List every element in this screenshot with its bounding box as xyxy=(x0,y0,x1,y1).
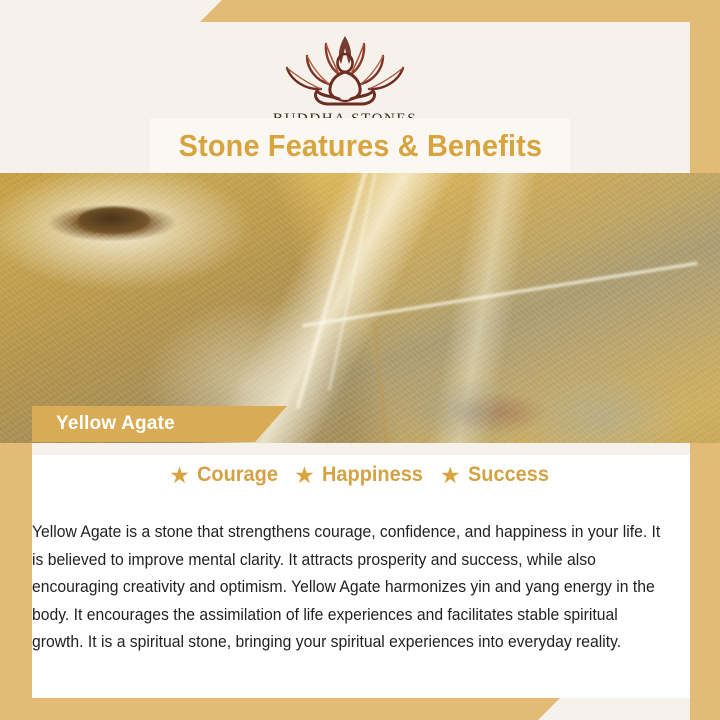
brand-logo: BUDDHA STONES xyxy=(271,30,419,128)
gold-top-accent-bar xyxy=(200,0,720,22)
stone-name-label: Yellow Agate xyxy=(32,413,175,435)
product-stone-image xyxy=(0,173,720,443)
benefit-item-courage: ★ Courage xyxy=(169,463,282,487)
stone-name-ribbon: Yellow Agate xyxy=(32,406,287,442)
benefit-item-happiness: ★ Happiness xyxy=(294,463,428,487)
page-title-banner: Stone Features & Benefits xyxy=(150,118,570,173)
star-icon: ★ xyxy=(294,464,315,487)
lotus-meditation-icon xyxy=(271,30,419,108)
star-icon: ★ xyxy=(440,464,461,487)
stone-cavity xyxy=(78,207,150,233)
gold-bottom-accent-bar xyxy=(0,698,560,720)
benefit-item-success: ★ Success xyxy=(440,463,553,487)
page-title: Stone Features & Benefits xyxy=(178,128,542,164)
benefit-label: Happiness xyxy=(322,463,423,487)
header: BUDDHA STONES Stone Features & Benefits xyxy=(0,22,690,173)
benefit-label: Courage xyxy=(197,463,278,487)
benefits-row: ★ Courage ★ Happiness ★ Success xyxy=(32,463,690,487)
star-icon: ★ xyxy=(169,464,190,487)
description-paragraph: Yellow Agate is a stone that strengthens… xyxy=(32,519,675,657)
card-top-strip xyxy=(32,443,690,455)
content-card: ★ Courage ★ Happiness ★ Success Yellow A… xyxy=(32,443,690,698)
benefit-label: Success xyxy=(468,463,549,487)
infographic-page: BUDDHA STONES Stone Features & Benefits … xyxy=(0,0,720,720)
